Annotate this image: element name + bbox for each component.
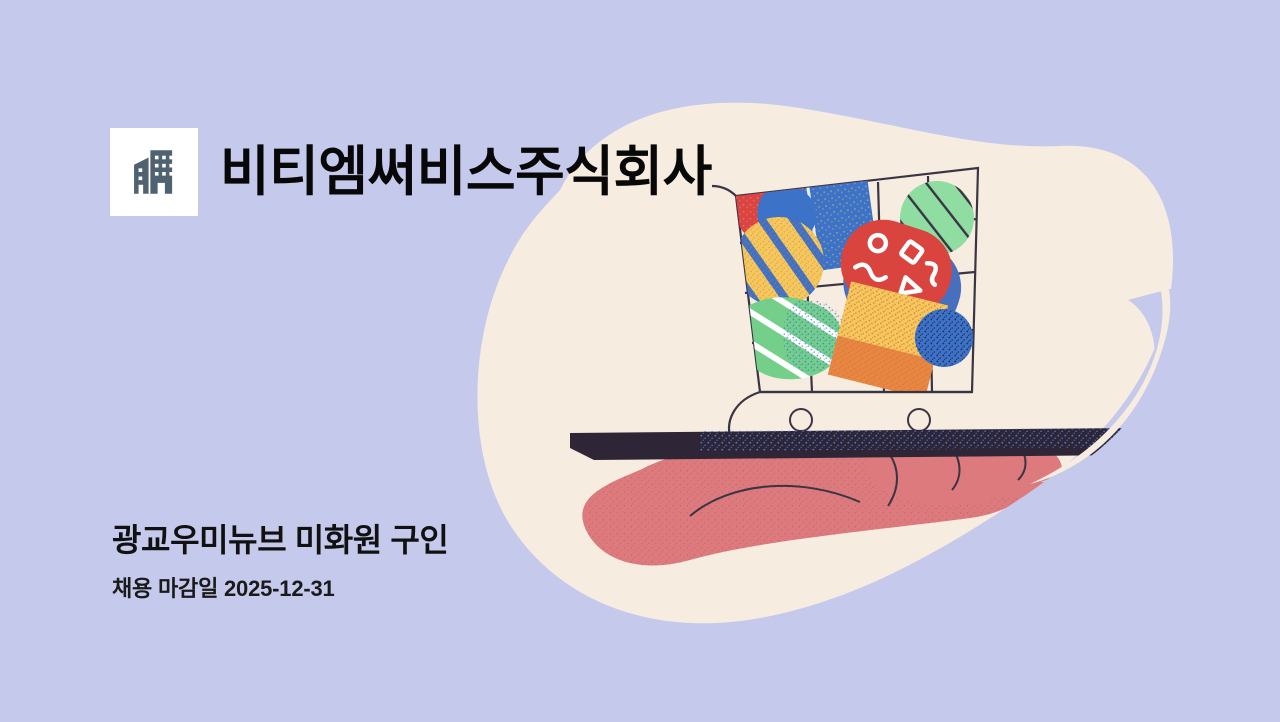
application-deadline: 채용 마감일 2025-12-31 [112,577,448,601]
job-title: 광교우미뉴브 미화원 구인 [112,522,448,559]
shopping-cart-illustration [0,0,1280,722]
company-logo-tile [110,128,198,216]
office-building-icon [125,143,183,201]
company-header: 비티엠써비스주식회사 [110,128,712,216]
job-info-block: 광교우미뉴브 미화원 구인 채용 마감일 2025-12-31 [112,522,448,601]
company-name: 비티엠써비스주식회사 [220,145,712,199]
cart-handle-bar [570,428,1132,460]
job-posting-poster: 비티엠써비스주식회사 광교우미뉴브 미화원 구인 채용 마감일 2025-12-… [0,0,1280,722]
